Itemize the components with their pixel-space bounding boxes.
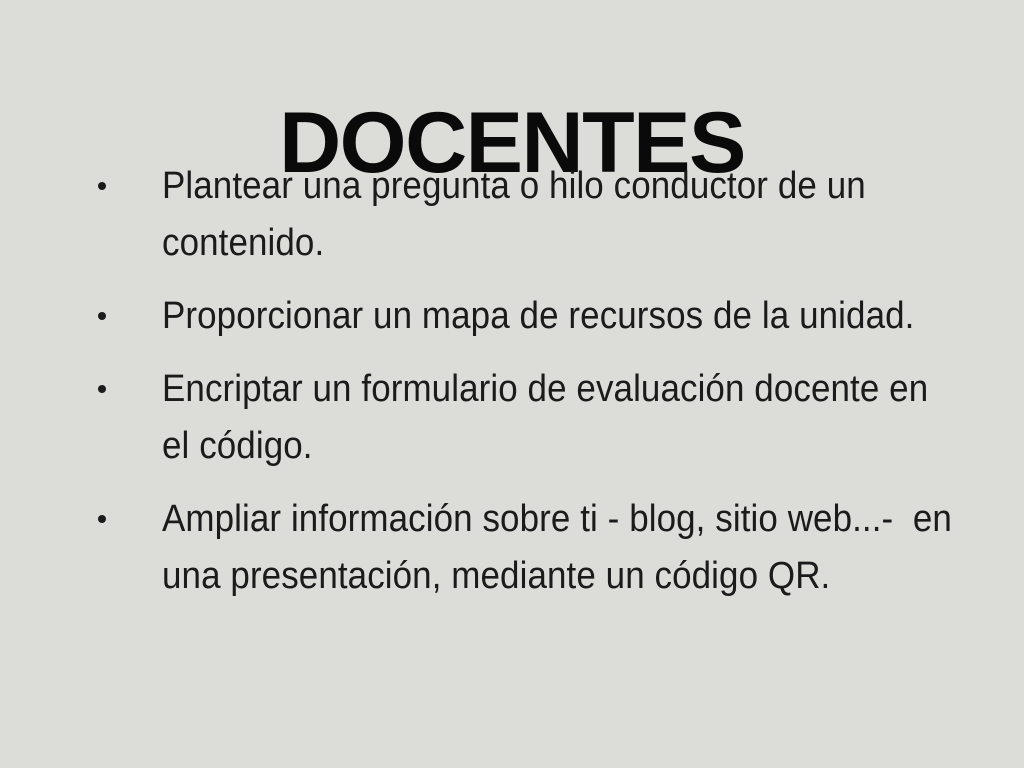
- bullet-item: Proporcionar un mapa de recursos de la u…: [40, 288, 1024, 345]
- bullet-list: Plantear una pregunta o hilo conductor d…: [0, 158, 1024, 621]
- bullet-item-text: Plantear una pregunta o hilo conductor d…: [162, 158, 955, 272]
- bullet-item: Plantear una pregunta o hilo conductor d…: [40, 158, 1024, 272]
- bullet-dot-icon: [98, 385, 106, 393]
- bullet-item: Encriptar un formulario de evaluación do…: [40, 361, 1024, 475]
- bullet-item-text: Proporcionar un mapa de recursos de la u…: [162, 288, 955, 345]
- presentation-slide: DOCENTES Plantear una pregunta o hilo co…: [0, 0, 1024, 768]
- bullet-dot-icon: [98, 515, 106, 523]
- bullet-dot-icon: [98, 312, 106, 320]
- bullet-item-text: Encriptar un formulario de evaluación do…: [162, 361, 955, 475]
- bullet-dot-icon: [98, 182, 106, 190]
- bullet-item: Ampliar información sobre ti - blog, sit…: [40, 491, 1024, 605]
- bullet-item-text: Ampliar información sobre ti - blog, sit…: [162, 491, 955, 605]
